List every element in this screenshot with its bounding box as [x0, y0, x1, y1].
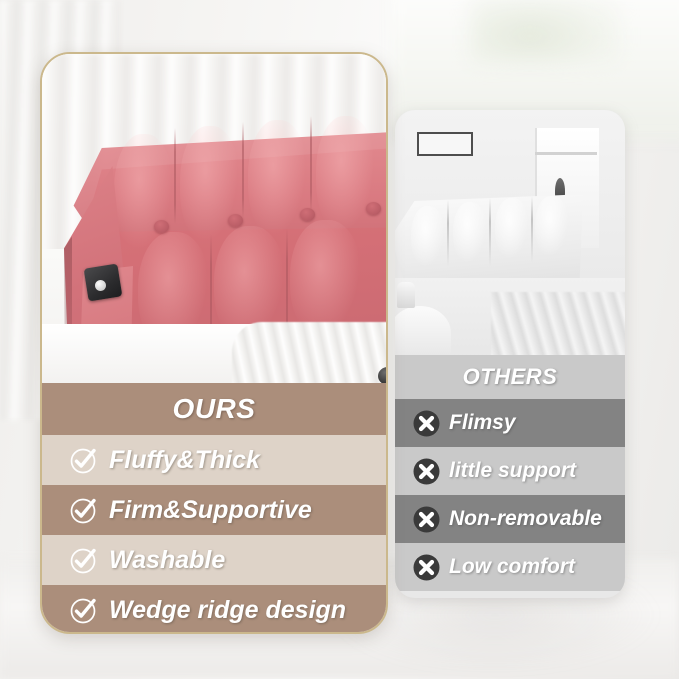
ours-pillow-button	[154, 220, 169, 233]
ours-row-wedge-ridge-design: Wedge ridge design	[42, 585, 386, 634]
others-product-photo	[395, 110, 625, 355]
check-circle-icon	[68, 495, 98, 525]
others-row-non-removable: Non-removable	[395, 495, 625, 543]
others-feature-table: OTHERS Flimsy little support	[395, 355, 625, 591]
others-pillow-seam	[489, 198, 491, 266]
others-row-low-comfort: Low comfort	[395, 543, 625, 591]
x-circle-icon	[413, 554, 440, 581]
others-pillow-seam	[447, 200, 449, 266]
others-pillow-tuft	[495, 198, 529, 260]
others-row-label: Flimsy	[449, 411, 516, 435]
others-row-label: little support	[449, 459, 576, 483]
ours-row-label: Wedge ridge design	[109, 596, 346, 625]
ours-pillow-button	[366, 202, 381, 215]
others-photo-niche-shelf	[535, 152, 597, 155]
x-circle-icon	[413, 410, 440, 437]
check-circle-icon	[68, 445, 98, 475]
x-circle-icon	[413, 458, 440, 485]
others-row-flimsy: Flimsy	[395, 399, 625, 447]
others-pillow-tuft	[411, 206, 445, 268]
others-row-label: Low comfort	[449, 555, 575, 579]
ours-row-washable: Washable	[42, 535, 386, 585]
ours-pillow-seam	[310, 116, 312, 212]
ours-row-label: Firm&Supportive	[109, 496, 312, 525]
ours-pillow-tuft	[180, 126, 240, 246]
ours-title: OURS	[173, 393, 256, 425]
others-photo-lamp	[397, 282, 415, 308]
others-pillow-tuft	[535, 196, 569, 258]
others-pillow-seam	[531, 196, 533, 262]
ours-feature-table: OURS Fluffy&Thick Firm&Supportive	[42, 383, 386, 634]
ours-row-fluffy-thick: Fluffy&Thick	[42, 435, 386, 485]
background-foliage	[470, 0, 620, 64]
others-title-band: OTHERS	[395, 355, 625, 399]
x-circle-icon	[413, 506, 440, 533]
others-photo-picture-frame	[417, 132, 473, 156]
ours-row-firm-supportive: Firm&Supportive	[42, 485, 386, 535]
others-photo-throw-blanket	[491, 292, 625, 355]
others-row-label: Non-removable	[449, 507, 602, 531]
ours-pillow-seam	[242, 122, 244, 218]
ours-pillow-tuft	[248, 120, 308, 240]
ours-comparison-card: OURS Fluffy&Thick Firm&Supportive	[40, 52, 388, 634]
others-row-little-support: little support	[395, 447, 625, 495]
others-pillow-tuft	[453, 202, 487, 264]
ours-product-photo	[42, 54, 386, 390]
check-circle-icon	[68, 545, 98, 575]
ours-photo-duvet	[232, 322, 386, 390]
ours-row-label: Fluffy&Thick	[109, 446, 260, 475]
ours-row-label: Washable	[109, 546, 225, 575]
ours-title-band: OURS	[42, 383, 386, 435]
others-comparison-card: OTHERS Flimsy little support	[395, 110, 625, 598]
check-circle-icon	[68, 595, 98, 625]
ours-pillow-button	[300, 208, 315, 221]
ours-pillow-button	[228, 214, 243, 227]
others-title: OTHERS	[463, 364, 558, 390]
ours-pillow-tuft	[316, 116, 376, 236]
ours-pillow-seam	[174, 128, 176, 224]
